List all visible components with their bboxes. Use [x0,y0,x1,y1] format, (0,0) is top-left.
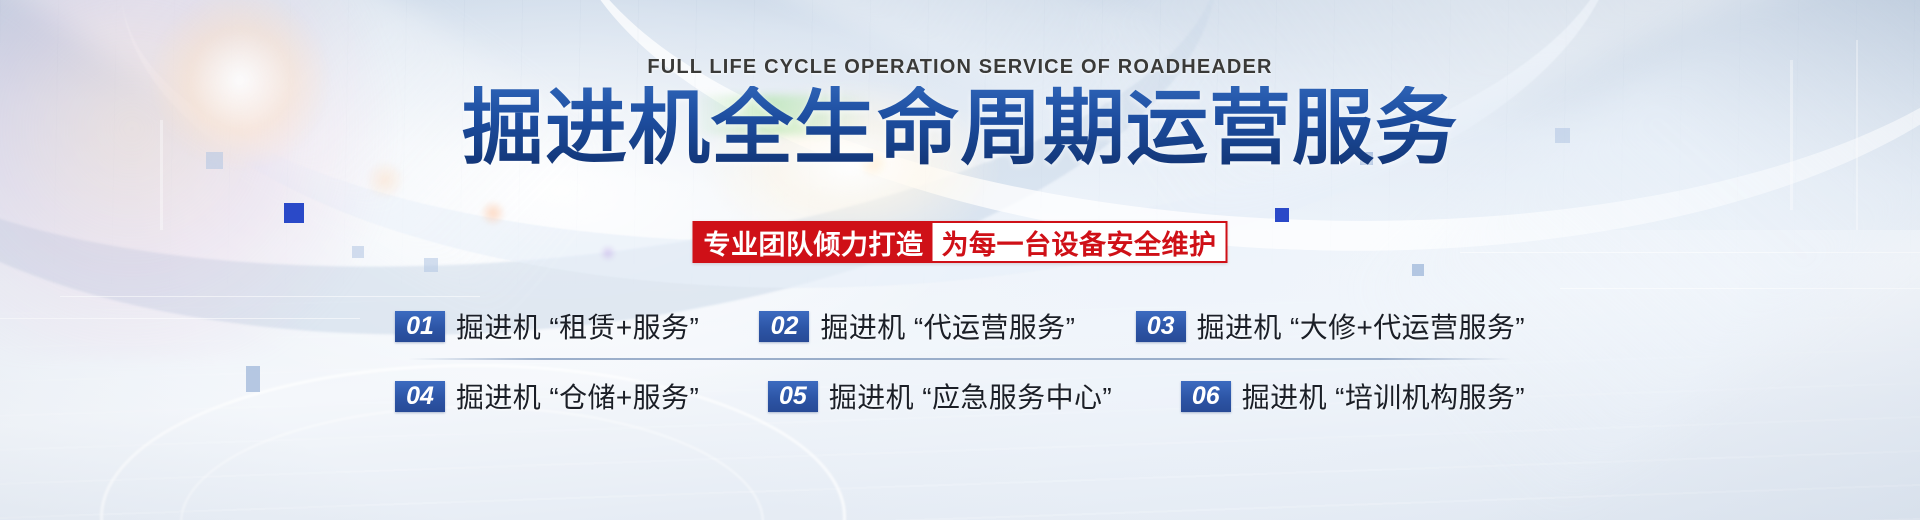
service-item-03[interactable]: 03 掘进机 “大修+代运营服务” [1136,306,1525,346]
service-item-01[interactable]: 01 掘进机 “租赁+服务” [395,306,699,346]
banner-eyebrow-english: FULL LIFE CYCLE OPERATION SERVICE OF ROA… [0,56,1920,79]
service-row-bottom: 04 掘进机 “仓储+服务” 05 掘进机 “应急服务中心” 06 掘进机 “培… [395,373,1525,419]
slogan-left: 专业团队倾力打造 [695,223,933,261]
service-label: 掘进机 “应急服务中心” [829,376,1112,416]
service-number-badge: 02 [759,311,809,342]
promo-banner: FULL LIFE CYCLE OPERATION SERVICE OF ROA… [0,0,1920,520]
service-item-02[interactable]: 02 掘进机 “代运营服务” [759,306,1075,346]
service-label: 掘进机 “大修+代运营服务” [1197,306,1525,346]
service-item-06[interactable]: 06 掘进机 “培训机构服务” [1181,376,1525,416]
service-row-divider [409,358,1512,360]
service-label: 掘进机 “培训机构服务” [1242,376,1525,416]
service-number-badge: 05 [768,381,818,412]
service-row-top: 01 掘进机 “租赁+服务” 02 掘进机 “代运营服务” 03 掘进机 “大修… [395,303,1525,349]
service-number-badge: 04 [395,381,445,412]
service-item-04[interactable]: 04 掘进机 “仓储+服务” [395,376,699,416]
service-label: 掘进机 “租赁+服务” [456,306,699,346]
slogan-bar: 专业团队倾力打造 为每一台设备安全维护 [693,221,1228,263]
service-item-05[interactable]: 05 掘进机 “应急服务中心” [768,376,1112,416]
service-number-badge: 03 [1136,311,1186,342]
service-label: 掘进机 “仓储+服务” [456,376,699,416]
service-number-badge: 06 [1181,381,1231,412]
banner-main-title: 掘进机全生命周期运营服务 [0,86,1920,172]
slogan-right: 为每一台设备安全维护 [933,223,1226,261]
service-label: 掘进机 “代运营服务” [820,306,1075,346]
banner-content: FULL LIFE CYCLE OPERATION SERVICE OF ROA… [0,0,1920,520]
service-number-badge: 01 [395,311,445,342]
